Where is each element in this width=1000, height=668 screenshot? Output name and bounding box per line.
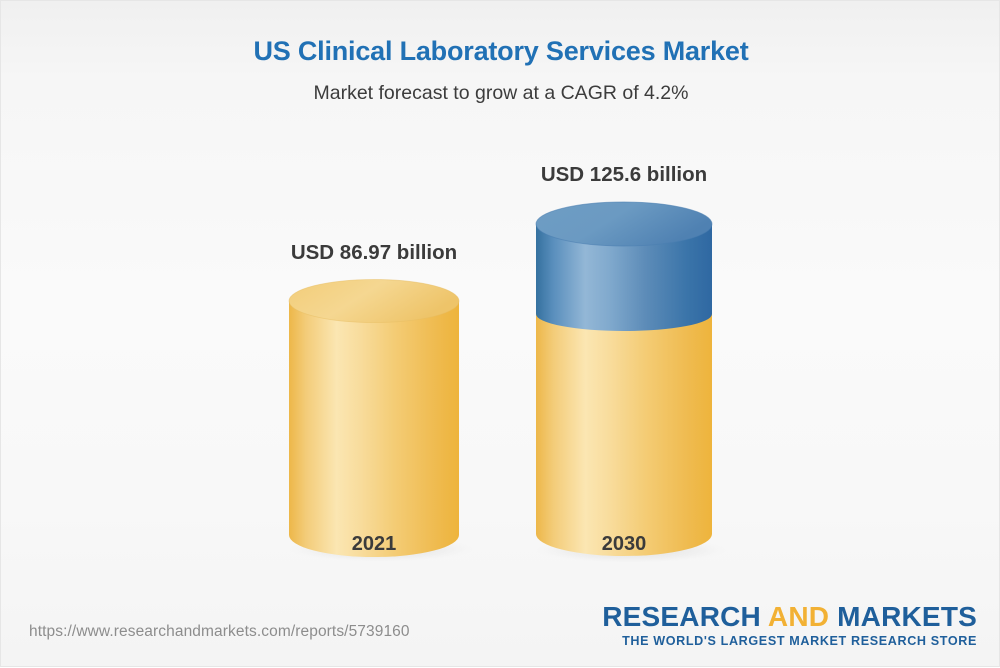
brand-logo: RESEARCH AND MARKETS THE WORLD'S LARGEST… — [602, 602, 977, 649]
brand-word-research: RESEARCH — [602, 601, 768, 632]
infographic-canvas: US Clinical Laboratory Services Market M… — [0, 0, 1000, 667]
brand-word-and: AND — [768, 601, 829, 632]
data-label-2021: USD 86.97 billion — [249, 241, 499, 265]
brand-tagline: THE WORLD'S LARGEST MARKET RESEARCH STOR… — [602, 633, 977, 649]
source-url[interactable]: https://www.researchandmarkets.com/repor… — [29, 623, 410, 641]
brand-name: RESEARCH AND MARKETS — [602, 602, 977, 632]
cylinder-2030 — [536, 202, 712, 558]
brand-word-markets: MARKETS — [829, 601, 977, 632]
data-label-2030: USD 125.6 billion — [499, 163, 749, 187]
chart-plot-area: USD 86.97 billion — [1, 1, 1000, 668]
cylinder-2021 — [289, 281, 459, 557]
cylinder-body-2021 — [289, 301, 459, 557]
axis-label-2030: 2030 — [536, 533, 712, 556]
axis-label-2021: 2021 — [289, 533, 459, 556]
